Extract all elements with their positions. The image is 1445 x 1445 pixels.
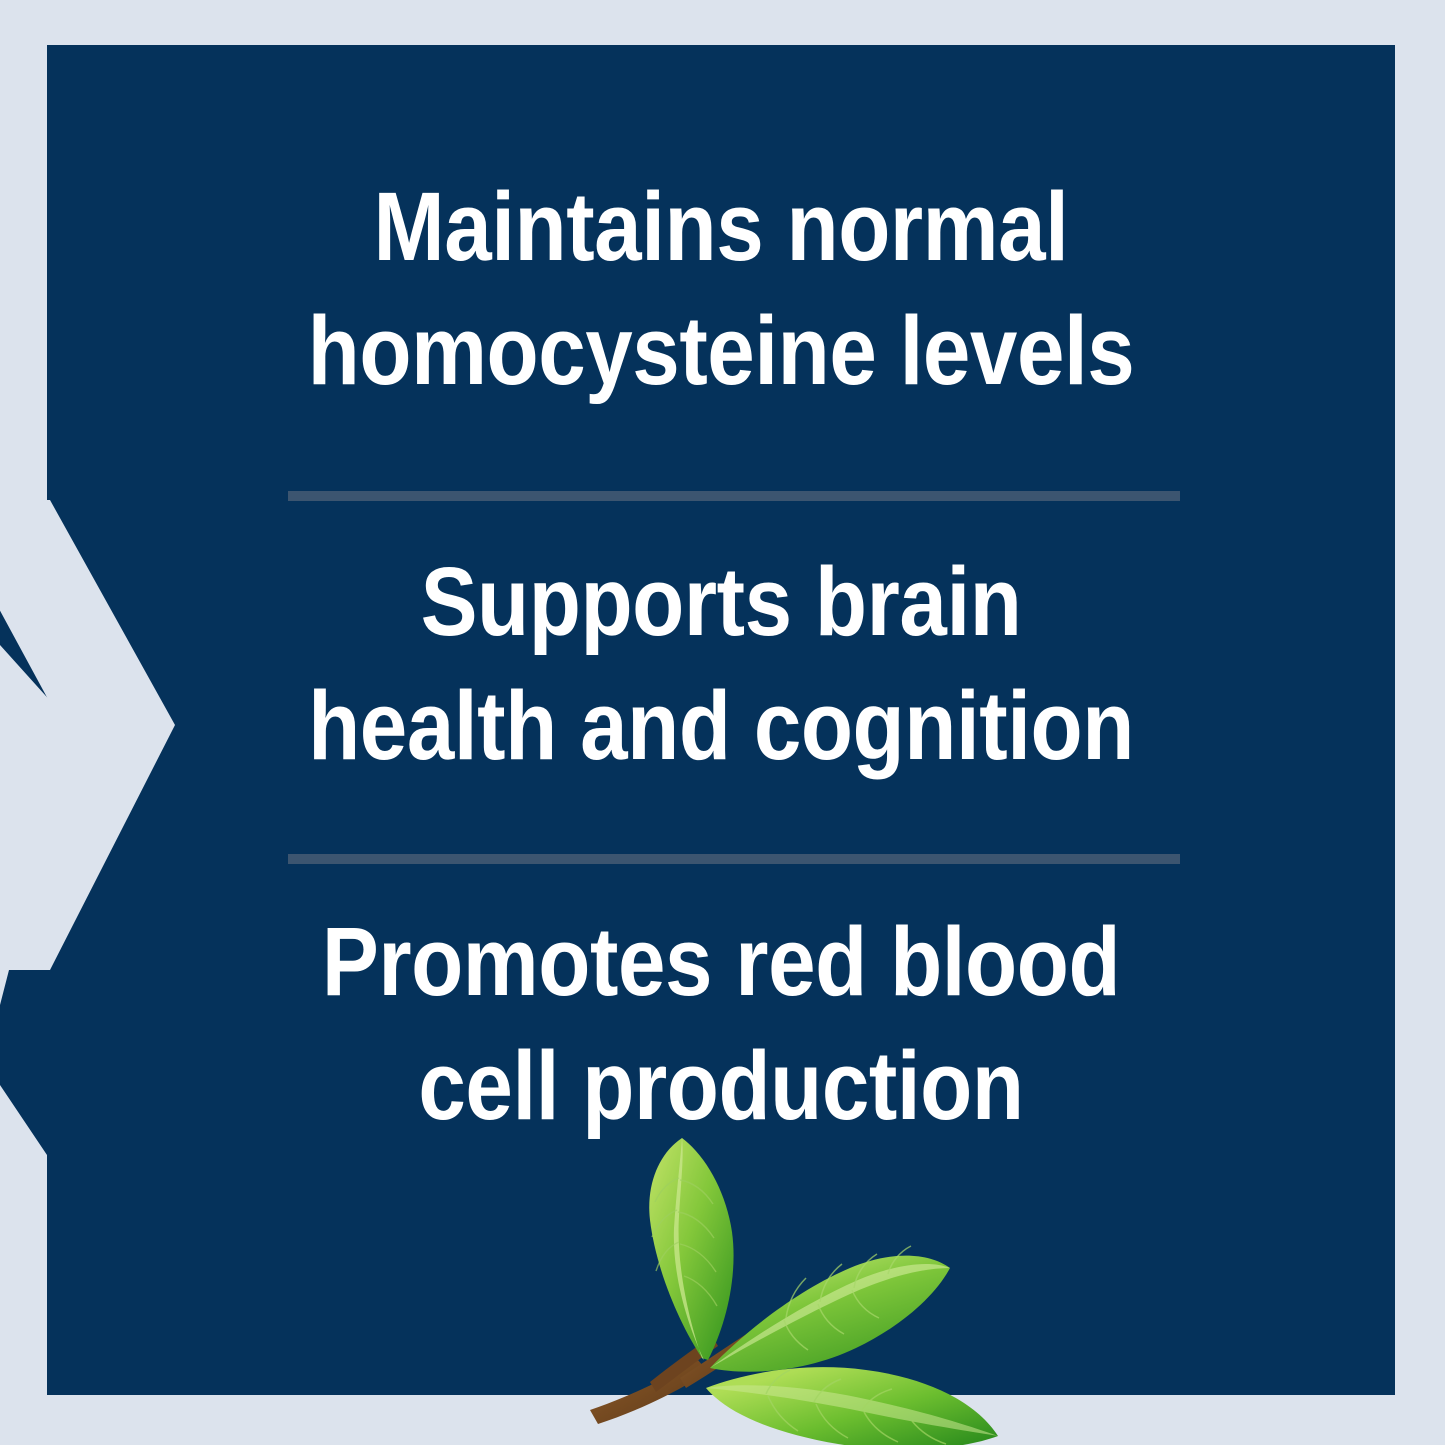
benefit-item-brain-health: Supports brain health and cognition xyxy=(128,540,1314,788)
benefit-item-homocysteine: Maintains normal homocysteine levels xyxy=(128,165,1314,413)
benefit-item-red-blood-cell: Promotes red blood cell production xyxy=(128,900,1314,1148)
promo-graphic: Maintains normal homocysteine levels Sup… xyxy=(0,0,1445,1445)
benefits-list: Maintains normal homocysteine levels Sup… xyxy=(47,45,1395,1395)
